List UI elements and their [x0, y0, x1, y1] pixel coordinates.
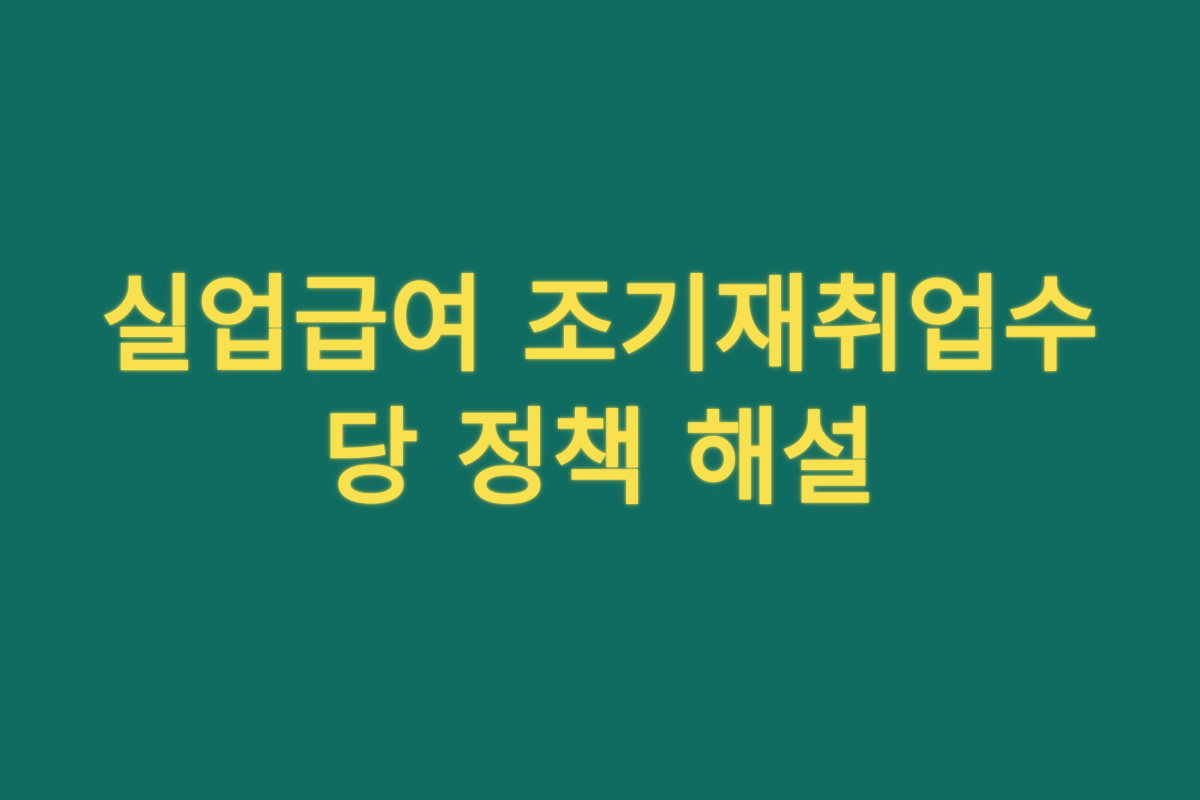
headline-line-2: 당 정책 해설 [323, 392, 877, 525]
headline-block: 실업급여 조기재취업수 당 정책 해설 [50, 259, 1150, 525]
title-card: 실업급여 조기재취업수 당 정책 해설 [0, 0, 1200, 800]
headline-line-1: 실업급여 조기재취업수 [101, 259, 1100, 392]
